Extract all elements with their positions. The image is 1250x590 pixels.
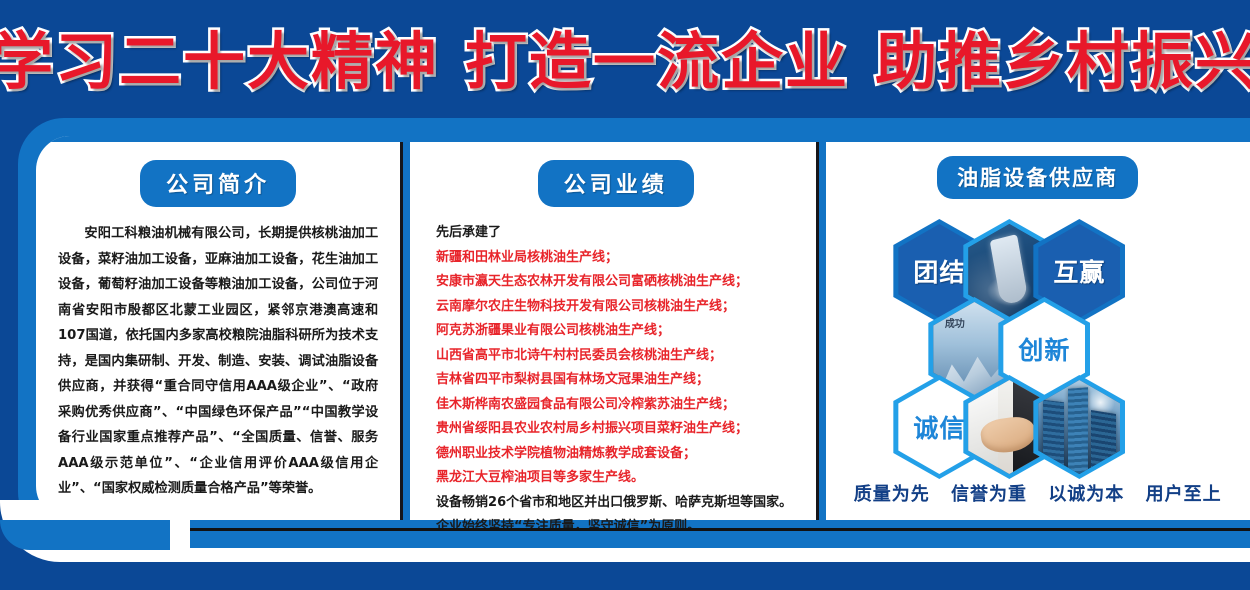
- hex-label: 团结: [913, 253, 965, 289]
- slogan-part: 质量为先: [854, 480, 930, 506]
- column-supplier-values: 油脂设备供应商 团结 互赢: [825, 142, 1250, 520]
- hex-label: 诚信: [913, 409, 965, 445]
- project-item: 佳木斯桦南农盛园食品有限公司冷榨紫苏油生产线；: [436, 393, 795, 418]
- headline-part-3: 助推乡村振兴: [875, 25, 1250, 98]
- heading-company-achievements: 公司业绩: [538, 160, 694, 207]
- heading-supplier: 油脂设备供应商: [937, 156, 1138, 199]
- hexagon-grid: 团结 互赢 成功: [835, 213, 1240, 465]
- hex-label: 创新: [1018, 331, 1070, 367]
- heading-company-intro: 公司简介: [140, 160, 296, 207]
- achievements-footer-line: 设备畅销26个省市和地区并出口俄罗斯、哈萨克斯坦等国家。: [436, 491, 795, 516]
- project-item: 山西省高平市北诗午村村民委员会核桃油生产线；: [436, 344, 795, 369]
- bottom-blue-band: [18, 528, 1250, 548]
- headline-part-1: 学习二十大精神: [0, 25, 439, 98]
- column-company-achievements: 公司业绩 先后承建了 新疆和田林业局核桃油生产线； 安康市瀛天生态农林开发有限公…: [410, 142, 815, 520]
- project-item: 云南摩尔农庄生物科技开发有限公司核桃油生产线；: [436, 295, 795, 320]
- headline-part-2: 打造一流企业: [465, 25, 849, 98]
- project-item: 德州职业技术学院植物油精炼教学成套设备；: [436, 442, 795, 467]
- company-slogan: 质量为先 信誉为重 以诚为本 用户至上: [825, 480, 1250, 506]
- ice-photo-caption: 成功: [945, 315, 965, 330]
- column-company-intro: 公司简介 安阳工科粮油机械有限公司，长期提供核桃油加工设备，菜籽油加工设备，亚麻…: [36, 142, 400, 520]
- headline-band: 学习二十大精神打造一流企业助推乡村振兴: [0, 0, 1250, 112]
- slogan-part: 以诚为本: [1048, 480, 1124, 506]
- achievements-list: 先后承建了 新疆和田林业局核桃油生产线； 安康市瀛天生态农林开发有限公司富硒核桃…: [436, 221, 795, 540]
- slogan-part: 信誉为重: [951, 480, 1027, 506]
- columns-container: 公司简介 安阳工科粮油机械有限公司，长期提供核桃油加工设备，菜籽油加工设备，亚麻…: [36, 142, 1250, 520]
- column-divider-1: [400, 142, 410, 520]
- slogan-part: 用户至上: [1146, 480, 1222, 506]
- column-divider-2: [816, 142, 826, 520]
- poster-headline: 学习二十大精神打造一流企业助推乡村振兴: [0, 11, 1250, 101]
- achievements-intro: 先后承建了: [436, 221, 795, 246]
- project-item: 阿克苏浙疆果业有限公司核桃油生产线；: [436, 319, 795, 344]
- project-item: 安康市瀛天生态农林开发有限公司富硒核桃油生产线；: [436, 270, 795, 295]
- hex-label: 互赢: [1053, 253, 1105, 289]
- poster-root: 学习二十大精神打造一流企业助推乡村振兴 公司简介 安阳工科粮油机械有限公司，长期…: [0, 0, 1250, 590]
- project-item: 吉林省四平市梨树县国有林场文冠果油生产线；: [436, 368, 795, 393]
- company-intro-body: 安阳工科粮油机械有限公司，长期提供核桃油加工设备，菜籽油加工设备，亚麻油加工设备…: [58, 221, 378, 502]
- project-item: 黑龙江大豆榨油项目等多家生产线。: [436, 466, 795, 491]
- hex-inner: [1038, 380, 1120, 474]
- project-item: 新疆和田林业局核桃油生产线；: [436, 246, 795, 271]
- bottom-left-curve: [0, 500, 190, 590]
- skyscraper-icon: [1038, 380, 1120, 474]
- project-item: 贵州省绥阳县农业农村局乡村振兴项目菜籽油生产线；: [436, 417, 795, 442]
